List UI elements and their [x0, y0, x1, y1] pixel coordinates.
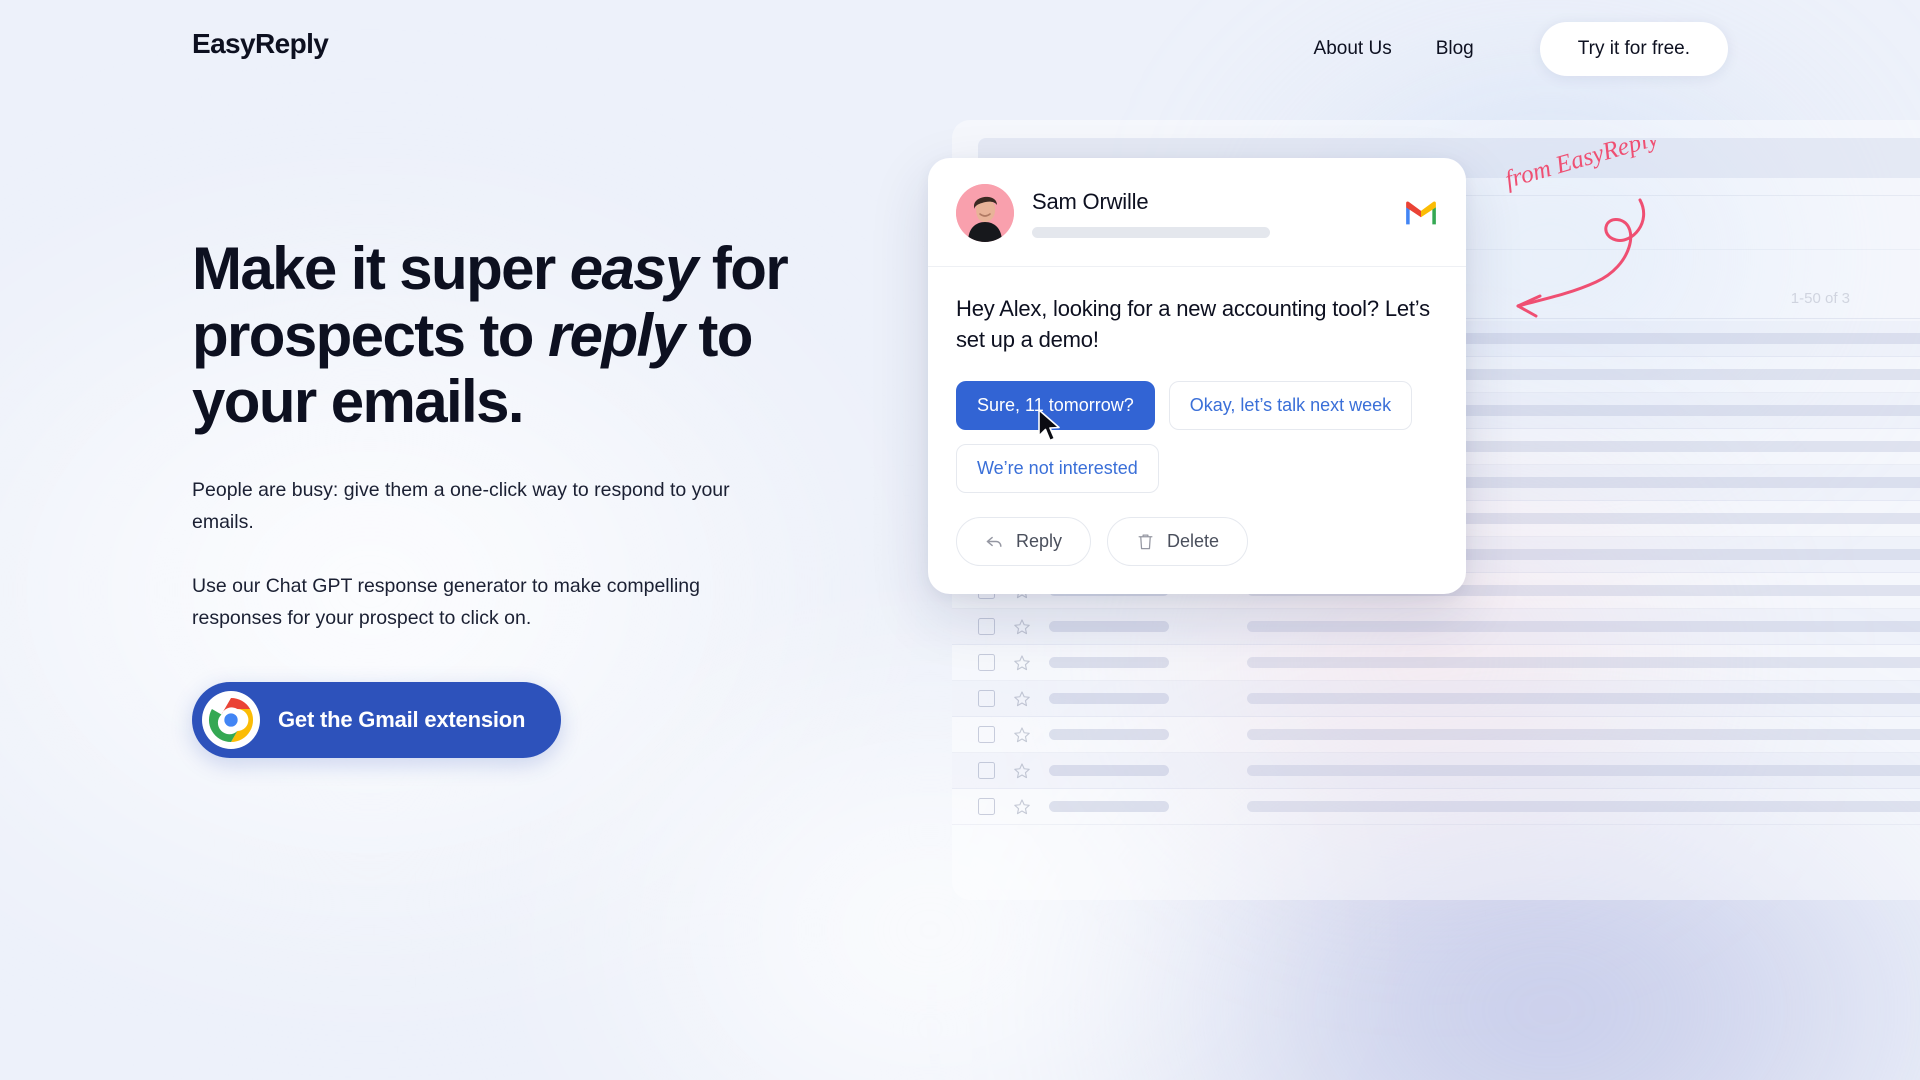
- row-subject-placeholder: [1247, 765, 1920, 776]
- reply-button[interactable]: Reply: [956, 517, 1091, 566]
- gmail-message-row[interactable]: [952, 609, 1920, 645]
- quick-reply-chip-2[interactable]: Okay, let’s talk next week: [1169, 381, 1412, 430]
- row-subject-placeholder: [1247, 693, 1920, 704]
- gmail-message-row[interactable]: [952, 789, 1920, 825]
- try-it-free-button[interactable]: Try it for free.: [1540, 22, 1728, 76]
- row-subject-placeholder: [1247, 729, 1920, 740]
- brand-logo[interactable]: EasyReply: [192, 30, 328, 58]
- gmail-message-row[interactable]: [952, 681, 1920, 717]
- star-icon[interactable]: [1013, 690, 1031, 708]
- avatar: [956, 184, 1014, 242]
- star-icon[interactable]: [1013, 798, 1031, 816]
- quick-reply-chip-primary[interactable]: Sure, 11 tomorrow?: [956, 381, 1155, 430]
- star-icon[interactable]: [1013, 762, 1031, 780]
- star-icon[interactable]: [1013, 726, 1031, 744]
- get-gmail-extension-label: Get the Gmail extension: [278, 707, 525, 733]
- delete-button-label: Delete: [1167, 531, 1219, 552]
- delete-button[interactable]: Delete: [1107, 517, 1248, 566]
- chrome-icon: [202, 691, 260, 749]
- avatar-photo: [956, 184, 1014, 242]
- row-checkbox[interactable]: [978, 690, 995, 707]
- row-checkbox[interactable]: [978, 798, 995, 815]
- trash-icon: [1136, 532, 1155, 551]
- reply-arrow-icon: [985, 532, 1004, 551]
- row-sender-placeholder: [1049, 729, 1169, 740]
- gmail-message-row[interactable]: [952, 717, 1920, 753]
- email-action-buttons: Reply Delete: [956, 517, 1438, 566]
- star-icon[interactable]: [1013, 654, 1031, 672]
- get-gmail-extension-button[interactable]: Get the Gmail extension: [192, 682, 561, 758]
- hero-paragraph-2: Use our Chat GPT response generator to m…: [192, 570, 712, 634]
- star-icon[interactable]: [1013, 618, 1031, 636]
- headline-part-1: Make it super: [192, 235, 570, 302]
- reply-button-label: Reply: [1016, 531, 1062, 552]
- hero-paragraph-1: People are busy: give them a one-click w…: [192, 474, 792, 538]
- row-checkbox[interactable]: [978, 618, 995, 635]
- quick-reply-chip-3[interactable]: We’re not interested: [956, 444, 1159, 493]
- row-subject-placeholder: [1247, 801, 1920, 812]
- email-preview-card: Sam Orwille Hey Alex, looking for a new …: [928, 158, 1466, 594]
- hero-subtext: People are busy: give them a one-click w…: [192, 474, 872, 635]
- row-subject-placeholder: [1247, 621, 1920, 632]
- row-checkbox[interactable]: [978, 726, 995, 743]
- email-card-header: Sam Orwille: [928, 158, 1466, 267]
- site-header: EasyReply About Us Blog Try it for free.: [0, 0, 1920, 100]
- gmail-message-row[interactable]: [952, 753, 1920, 789]
- row-sender-placeholder: [1049, 657, 1169, 668]
- email-message-text: Hey Alex, looking for a new accounting t…: [956, 293, 1438, 355]
- page-title: Make it super easy for prospects to repl…: [192, 236, 872, 436]
- nav-link-blog[interactable]: Blog: [1414, 26, 1496, 72]
- main-navigation: About Us Blog Try it for free.: [1292, 22, 1728, 76]
- subject-placeholder-bar: [1032, 227, 1270, 238]
- row-sender-placeholder: [1049, 621, 1169, 632]
- landing-page: Promotions 12 new Meet Social 1 new: [0, 0, 1920, 1080]
- email-card-sender-block: Sam Orwille: [1032, 189, 1404, 238]
- row-sender-placeholder: [1049, 693, 1169, 704]
- gmail-message-row[interactable]: [952, 645, 1920, 681]
- hero-section: Make it super easy for prospects to repl…: [192, 236, 872, 758]
- row-checkbox[interactable]: [978, 762, 995, 779]
- row-checkbox[interactable]: [978, 654, 995, 671]
- headline-emphasis-easy: easy: [570, 235, 697, 302]
- row-sender-placeholder: [1049, 801, 1169, 812]
- sender-name: Sam Orwille: [1032, 189, 1404, 215]
- gmail-logo-icon: [1404, 200, 1438, 226]
- email-card-body: Hey Alex, looking for a new accounting t…: [928, 267, 1466, 594]
- nav-link-about-us[interactable]: About Us: [1292, 26, 1414, 72]
- row-subject-placeholder: [1247, 657, 1920, 668]
- headline-emphasis-reply: reply: [548, 302, 683, 369]
- quick-reply-list: Sure, 11 tomorrow? Okay, let’s talk next…: [956, 381, 1438, 493]
- row-sender-placeholder: [1049, 765, 1169, 776]
